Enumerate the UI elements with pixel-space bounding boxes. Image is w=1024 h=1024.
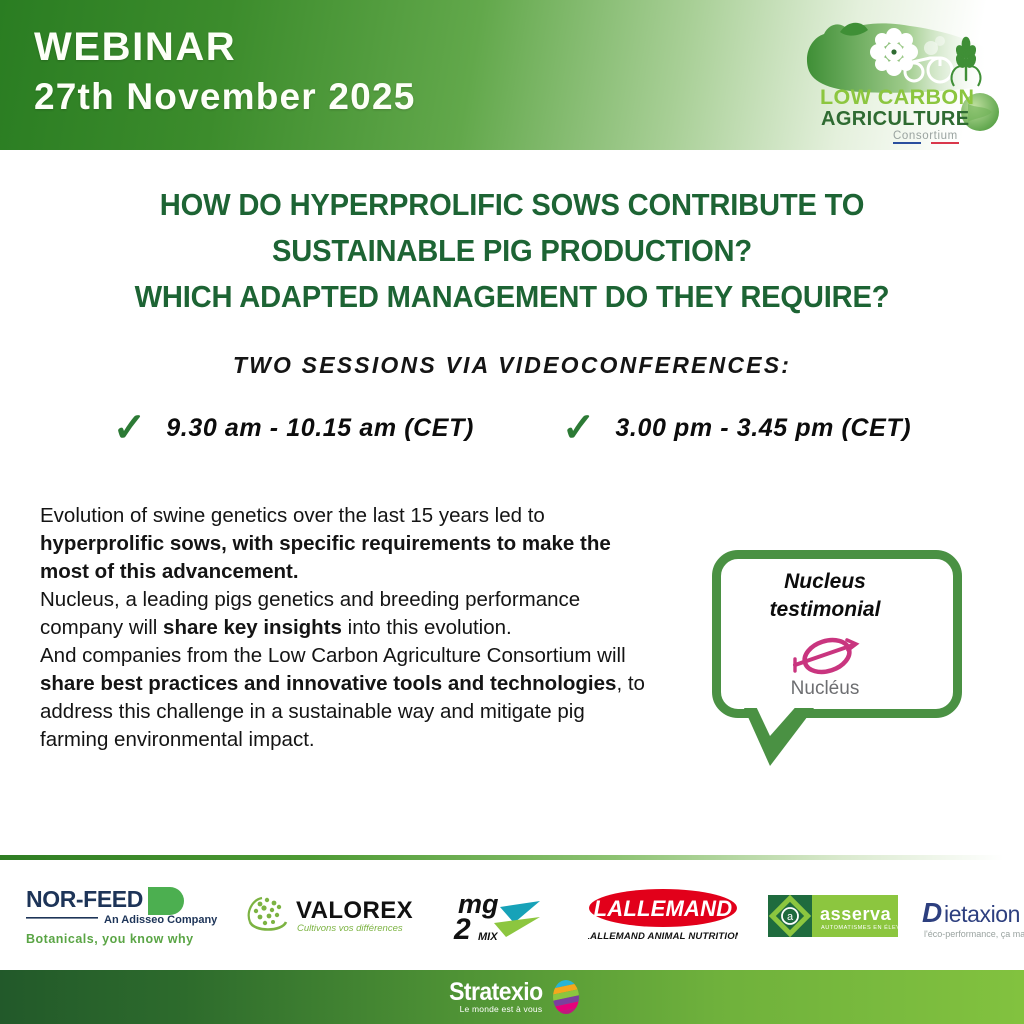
nucleus-logo: Nucléus [755, 632, 895, 704]
svg-text:Botanicals, you know why: Botanicals, you know why [26, 932, 194, 946]
svg-text:2: 2 [453, 913, 471, 946]
low-carbon-agriculture-consortium-logo: LOW CARBON AGRICULTURE Consortium [790, 8, 1010, 148]
description-paragraph-2: Nucleus, a leading pigs genetics and bre… [40, 586, 648, 642]
title-line-1: HOW DO HYPERPROLIFIC SOWS CONTRIBUTE TO [31, 182, 994, 228]
bubble-title-line-1: Nucleus [700, 568, 950, 596]
bubble-title-line-2: testimonial [700, 596, 950, 624]
stratexio-text-block: Stratexio Le monde est à vous [441, 980, 543, 1015]
sponsor-logo-lallemand: LALLEMAND LALLEMAND ANIMAL NUTRITION [588, 888, 738, 944]
p1-bold: hyperprolific sows, with specific requir… [40, 532, 611, 583]
p3-bold: share best practices and innovative tool… [40, 672, 616, 695]
svg-text:Nucléus: Nucléus [791, 678, 860, 699]
session-morning: ✓ 9.30 am - 10.15 am (CET) [113, 408, 474, 448]
sponsor-logo-valorex: VALOREX Cultivons vos différences [236, 886, 418, 946]
header-banner: WEBINAR 27th November 2025 [0, 0, 1024, 150]
session-afternoon: ✓ 3.00 pm - 3.45 pm (CET) [562, 408, 911, 448]
svg-text:AUTOMATISMES EN ÉLEVAGE: AUTOMATISMES EN ÉLEVAGE [821, 924, 898, 931]
page-title: HOW DO HYPERPROLIFIC SOWS CONTRIBUTE TO … [0, 182, 1024, 320]
nucleus-testimonial-bubble: Nucleus testimonial Nucléus [700, 550, 962, 765]
webinar-label: WEBINAR [34, 22, 416, 72]
p2-bold: share key insights [163, 616, 342, 639]
sponsor-logo-mg2mix: mg 2 MIX [444, 885, 562, 947]
stratexio-brand: Stratexio [449, 980, 542, 1004]
svg-text:ietaxion: ietaxion [944, 901, 1020, 927]
title-line-3: WHICH ADAPTED MANAGEMENT DO THEY REQUIRE… [31, 274, 994, 320]
check-icon: ✓ [562, 408, 596, 448]
footer-bar: Stratexio Le monde est à vous [0, 970, 1024, 1024]
p3-plain-a: And companies from the Low Carbon Agricu… [40, 644, 626, 667]
svg-text:LOW CARBON: LOW CARBON [820, 85, 974, 109]
p2-plain-b: into this evolution. [342, 616, 512, 639]
svg-text:a: a [787, 911, 794, 923]
webinar-date: 27th November 2025 [34, 72, 416, 122]
svg-text:NOR-FEED: NOR-FEED [26, 886, 143, 912]
check-icon: ✓ [113, 408, 147, 448]
svg-text:LALLEMAND: LALLEMAND [594, 896, 733, 921]
p1-plain: Evolution of swine genetics over the las… [40, 504, 545, 527]
svg-text:LALLEMAND ANIMAL NUTRITION: LALLEMAND ANIMAL NUTRITION [588, 931, 738, 942]
bubble-title: Nucleus testimonial [700, 568, 950, 624]
stratexio-globe-icon [549, 977, 583, 1017]
svg-text:D: D [922, 897, 942, 928]
section-divider [0, 855, 1024, 860]
header-text-block: WEBINAR 27th November 2025 [34, 22, 416, 122]
svg-text:MIX: MIX [478, 931, 498, 943]
svg-text:l'éco-performance, ça marche: l'éco-performance, ça marche [924, 929, 1024, 939]
svg-text:Cultivons vos différences: Cultivons vos différences [297, 923, 403, 934]
description-paragraph-1: Evolution of swine genetics over the las… [40, 502, 648, 586]
description-paragraph-3: And companies from the Low Carbon Agricu… [40, 642, 648, 754]
sessions-row: ✓ 9.30 am - 10.15 am (CET) ✓ 3.00 pm - 3… [0, 408, 1024, 448]
sponsor-logo-asserva: a asserva AUTOMATISMES EN ÉLEVAGE [768, 893, 898, 939]
sessions-heading: TWO SESSIONS VIA VIDEOCONFERENCES: [0, 352, 1024, 379]
svg-text:asserva: asserva [820, 904, 892, 924]
description-text: Evolution of swine genetics over the las… [40, 502, 648, 754]
svg-text:AGRICULTURE: AGRICULTURE [821, 108, 969, 130]
sponsor-logo-row: NOR-FEED An Adisseo Company Botanicals, … [0, 872, 1024, 960]
session-afternoon-time: 3.00 pm - 3.45 pm (CET) [615, 414, 911, 443]
sponsor-logo-dietaxion: D ietaxion l'éco-performance, ça marche [920, 889, 1024, 943]
session-morning-time: 9.30 am - 10.15 am (CET) [166, 414, 474, 443]
sponsor-logo-norfeed: NOR-FEED An Adisseo Company Botanicals, … [22, 881, 218, 951]
svg-text:An Adisseo Company: An Adisseo Company [104, 914, 218, 926]
bubble-tail-inner-icon [754, 702, 800, 736]
svg-text:VALOREX: VALOREX [296, 897, 413, 924]
svg-text:Consortium: Consortium [893, 130, 958, 142]
stratexio-logo: Stratexio Le monde est à vous [441, 977, 584, 1017]
title-line-2: SUSTAINABLE PIG PRODUCTION? [31, 228, 994, 274]
